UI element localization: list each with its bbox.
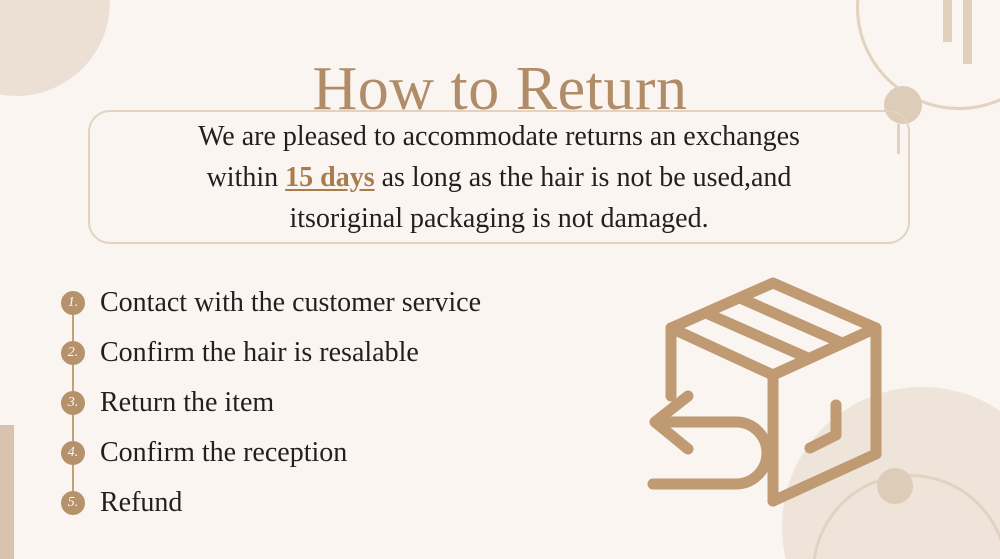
policy-line-2-before: within xyxy=(207,162,286,193)
step-label: Contact with the customer service xyxy=(100,286,481,320)
policy-line-1: We are pleased to accommodate returns an… xyxy=(96,116,902,157)
policy-line-3: itsoriginal packaging is not damaged. xyxy=(96,198,902,239)
step-marker: 4. xyxy=(60,428,86,478)
policy-highlight-days: 15 days xyxy=(285,162,374,193)
decor-bar-left xyxy=(0,425,14,559)
step-number-badge: 1. xyxy=(61,291,85,315)
step-marker: 2. xyxy=(60,328,86,378)
step-label: Confirm the reception xyxy=(100,436,347,470)
step-number-badge: 3. xyxy=(61,391,85,415)
policy-text: We are pleased to accommodate returns an… xyxy=(96,114,902,240)
step-marker: 1. xyxy=(60,278,86,328)
step-marker: 3. xyxy=(60,378,86,428)
policy-line-2-after: as long as the hair is not be used,and xyxy=(375,162,792,193)
clock-icon xyxy=(810,405,836,448)
list-item: 2. Confirm the hair is resalable xyxy=(60,328,660,378)
step-number-badge: 5. xyxy=(61,491,85,515)
steps-list: 1. Contact with the customer service 2. … xyxy=(60,278,660,528)
step-number-badge: 4. xyxy=(61,441,85,465)
step-number-badge: 2. xyxy=(61,341,85,365)
list-item: 4. Confirm the reception xyxy=(60,428,660,478)
step-label: Refund xyxy=(100,486,182,520)
list-item: 1. Contact with the customer service xyxy=(60,278,660,328)
step-marker: 5. xyxy=(60,478,86,528)
step-label: Return the item xyxy=(100,386,274,420)
return-package-icon xyxy=(640,272,910,534)
step-label: Confirm the hair is resalable xyxy=(100,336,419,370)
decor-bar-top-right-short xyxy=(943,0,952,42)
list-item: 3. Return the item xyxy=(60,378,660,428)
box-top-face xyxy=(671,283,876,375)
return-package-illustration xyxy=(640,272,910,534)
slide-how-to-return: How to Return We are pleased to accommod… xyxy=(0,0,1000,559)
policy-line-2: within 15 days as long as the hair is no… xyxy=(96,157,902,198)
list-item: 5. Refund xyxy=(60,478,660,528)
